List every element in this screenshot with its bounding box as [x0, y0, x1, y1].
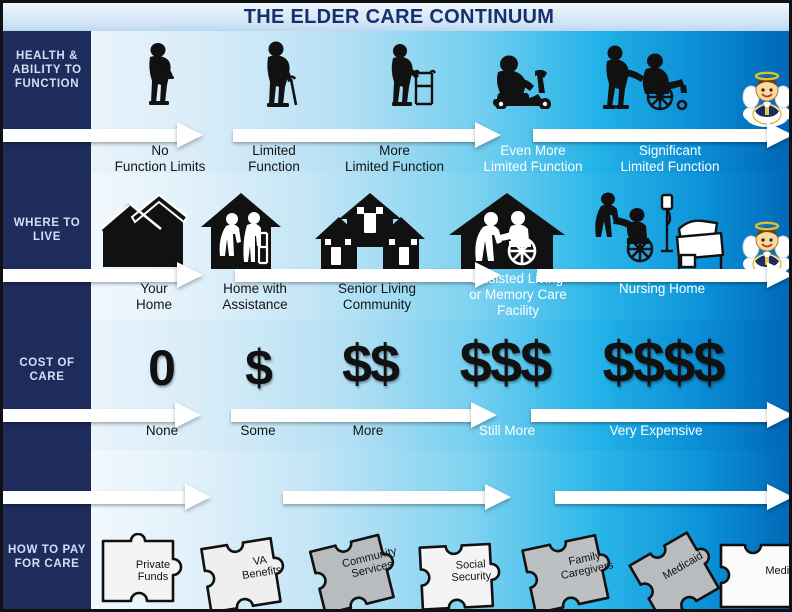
walking-person-icon — [139, 43, 179, 105]
caption-no-function-limits: NoFunction Limits — [95, 143, 225, 175]
house-with-two-people-icon — [199, 191, 283, 271]
progress-arrow-1c — [533, 129, 792, 142]
poster-canvas: HEALTH & ABILITY TO FUNCTION WHERE TO LI… — [3, 31, 792, 612]
progress-arrow-3b — [231, 409, 499, 422]
caption-senior-living-community: Senior LivingCommunity — [313, 281, 441, 313]
house-with-wheelchair-icon — [447, 191, 567, 273]
person-with-cane-icon — [259, 41, 307, 107]
page-title: THE ELDER CARE CONTINUUM — [244, 6, 555, 29]
caption-none: None — [117, 423, 207, 439]
three-houses-community-icon — [315, 191, 425, 271]
two-houses-icon — [99, 189, 187, 271]
progress-arrow-4a — [3, 491, 211, 504]
cost-symbol-still-more: $$$ — [435, 329, 575, 396]
progress-arrow-3c — [531, 409, 792, 422]
caption-even-more-limited-function: Even MoreLimited Function — [463, 143, 603, 175]
category-sidebar: HEALTH & ABILITY TO FUNCTION WHERE TO LI… — [3, 31, 91, 612]
sidebar-item-how-to-pay-for-care: HOW TO PAY FOR CARE — [3, 543, 91, 571]
caption-more: More — [321, 423, 415, 439]
progress-arrow-4b — [283, 491, 513, 504]
caption-your-home: YourHome — [99, 281, 209, 313]
hospital-bed-iv-icon — [595, 189, 725, 275]
elder-care-continuum-poster: THE ELDER CARE CONTINUUM HEALTH & ABILIT… — [0, 0, 792, 612]
puzzle-piece-medicare[interactable]: Medicare — [711, 531, 792, 611]
caption-more-limited-function: MoreLimited Function — [327, 143, 462, 175]
sidebar-item-cost-of-care: COST OF CARE — [3, 356, 91, 384]
poster-title-banner: THE ELDER CARE CONTINUUM — [3, 3, 792, 32]
caption-some: Some — [213, 423, 303, 439]
caption-assisted-living: Assisted Livingor Memory CareFacility — [443, 271, 593, 319]
caption-still-more: Still More — [453, 423, 561, 439]
sidebar-label-cost: COST OF CARE — [19, 357, 74, 383]
puzzle-label-medicare: Medicare — [711, 531, 792, 611]
caption-significant-limited-function: SignificantLimited Function — [597, 143, 743, 175]
sidebar-label-where: WHERE TO LIVE — [14, 217, 81, 243]
cost-symbol-none: 0 — [121, 339, 201, 397]
progress-arrow-1a — [3, 129, 203, 142]
payment-options-puzzle: PrivateFunds VABenefits CommunityService… — [91, 523, 792, 612]
cost-symbol-very-expensive: $$$$ — [575, 329, 751, 396]
progress-arrow-1b — [233, 129, 503, 142]
caption-very-expensive: Very Expensive — [581, 423, 731, 439]
puzzle-piece-va-benefits[interactable]: VABenefits — [191, 518, 318, 612]
cost-symbol-more: $$ — [315, 333, 425, 395]
cost-symbol-some: $ — [218, 339, 298, 397]
sidebar-label-health: HEALTH & ABILITY TO FUNCTION — [12, 50, 81, 90]
mobility-scooter-icon — [487, 55, 569, 109]
sidebar-item-health-ability-to-function: HEALTH & ABILITY TO FUNCTION — [3, 49, 91, 91]
wheelchair-pushed-icon — [600, 45, 696, 111]
caption-home-with-assistance: Home withAssistance — [195, 281, 315, 313]
caption-nursing-home: Nursing Home — [591, 281, 733, 297]
progress-arrow-4c — [555, 491, 792, 504]
progress-arrow-3a — [3, 409, 201, 422]
person-with-walker-icon — [385, 43, 439, 107]
sidebar-label-pay: HOW TO PAY FOR CARE — [8, 544, 86, 570]
caption-limited-function: LimitedFunction — [219, 143, 329, 175]
sidebar-item-where-to-live: WHERE TO LIVE — [3, 216, 91, 244]
